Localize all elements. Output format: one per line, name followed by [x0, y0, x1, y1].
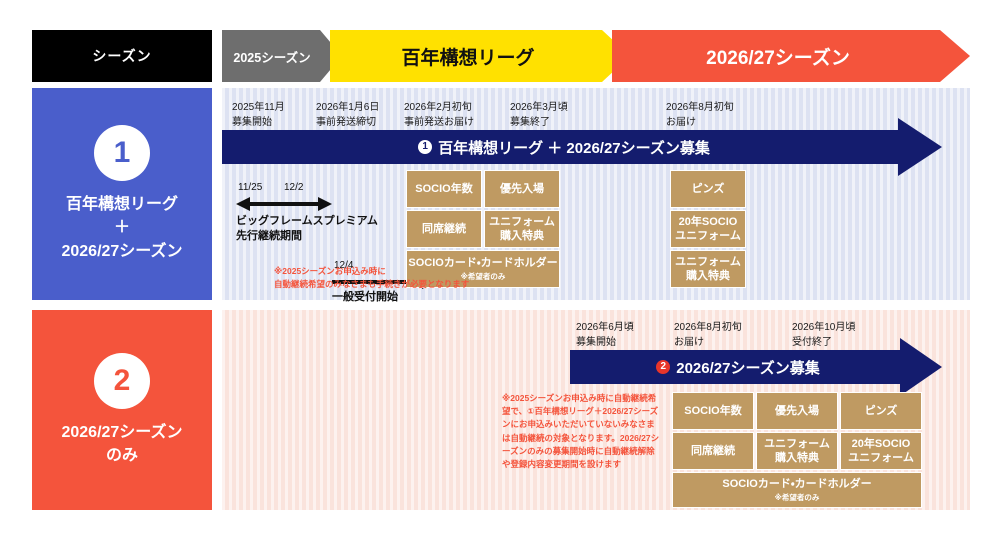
date-value: 2026年1月6日	[316, 100, 379, 115]
row-1-mini-caption: 一般受付開始	[332, 290, 398, 305]
benefit-sublabel: ※希望者のみ	[775, 493, 820, 503]
benefit-label: ピンズ	[865, 404, 898, 418]
row-1-title-plus: ＋	[61, 216, 182, 239]
arrow-number-badge: 1	[418, 140, 432, 154]
arrow-label-text: 百年構想リーグ ＋ 2026/27シーズン募集	[438, 137, 710, 158]
row-2-title-line: 2026/27シーズン	[61, 421, 182, 444]
benefit-label: ピンズ	[692, 182, 725, 196]
row-1-benefit-box: SOCIO年数	[406, 170, 482, 208]
benefit-label: 同席継続	[691, 444, 735, 458]
arrow-label-text: 2026/27シーズン募集	[676, 357, 819, 378]
row-2-arrow-label-wrap: 2 2026/27シーズン募集	[570, 338, 942, 396]
row-2-arrow-label: 2 2026/27シーズン募集	[656, 357, 855, 378]
date-value: 2026年3月頃	[510, 100, 568, 115]
row-1-title: 百年構想リーグ ＋ 2026/27シーズン	[61, 193, 182, 263]
benefit-label: 購入特典	[500, 229, 544, 243]
header-phase-2025-season: 2025シーズン	[222, 30, 342, 82]
header-phase-hyakunen-league: 百年構想リーグ	[330, 30, 630, 82]
row-1-double-arrow-icon	[236, 196, 332, 212]
benefit-label: 20年SOCIO	[679, 215, 738, 229]
row-1-benefit-box: 20年SOCIO ユニフォーム	[670, 210, 746, 248]
row-2-benefit-box: SOCIO年数	[672, 392, 754, 430]
benefit-label: ユニフォーム	[675, 255, 741, 269]
row-2-note: ※2025シーズンお申込み時に自動継続希望で、①百年構想リーグ＋2026/27シ…	[502, 392, 660, 471]
row-1-side-panel: 1 百年構想リーグ ＋ 2026/27シーズン	[32, 88, 212, 300]
row-2-title: 2026/27シーズン のみ	[61, 421, 182, 467]
caption-line: 先行継続期間	[236, 229, 378, 244]
benefit-label: SOCIO年数	[684, 404, 741, 418]
row-2-benefit-box: 20年SOCIO ユニフォーム	[840, 432, 922, 470]
row-1-title-line: 2026/27シーズン	[61, 240, 182, 263]
note-line: ※2025シーズンお申込み時に	[274, 265, 469, 278]
header-phase-label: 百年構想リーグ	[330, 43, 630, 70]
header-phase-2026-27-season: 2026/27シーズン	[612, 30, 970, 82]
date-value: 2026年10月頃	[792, 320, 855, 335]
row-2-benefit-box: ピンズ	[840, 392, 922, 430]
row-1-mini-start-date: 11/25	[238, 182, 262, 193]
row-2-side-panel: 2 2026/27シーズン のみ	[32, 310, 212, 510]
benefit-label: 優先入場	[500, 182, 544, 196]
row-1-timeline: 2025年11月 募集開始 2026年1月6日 事前発送締切 2026年2月初旬…	[222, 88, 970, 300]
date-value: 2026年8月初旬	[674, 320, 742, 335]
row-2-benefit-box: 優先入場	[756, 392, 838, 430]
benefit-label: 購入特典	[686, 269, 730, 283]
benefit-label: SOCIO年数	[415, 182, 472, 196]
date-value: 2026年8月初旬	[666, 100, 734, 115]
row-1-arrow-label-wrap: 1 百年構想リーグ ＋ 2026/27シーズン募集	[222, 118, 942, 176]
date-value: 2025年11月	[232, 100, 285, 115]
row-2-benefit-box-wide: SOCIOカード・カードホルダー ※希望者のみ	[672, 472, 922, 508]
arrow-number-badge: 2	[656, 360, 670, 374]
benefit-label: ユニフォーム	[489, 215, 555, 229]
row-1-benefit-box: ユニフォーム 購入特典	[670, 250, 746, 288]
row-1-arrow-label: 1 百年構想リーグ ＋ 2026/27シーズン募集	[418, 137, 746, 158]
row-1-benefit-box: 同席継続	[406, 210, 482, 248]
benefit-label: ユニフォーム	[764, 437, 830, 451]
row-2-benefit-box: 同席継続	[672, 432, 754, 470]
date-value: 2026年2月初旬	[404, 100, 474, 115]
benefit-label: 優先入場	[775, 404, 819, 418]
benefit-label: ユニフォーム	[848, 451, 914, 465]
benefit-label: 購入特典	[775, 451, 819, 465]
benefit-label: 同席継続	[422, 222, 466, 236]
row-1-mini-end-date: 12/2	[284, 182, 303, 193]
row-1-title-line: 百年構想リーグ	[61, 193, 182, 216]
row-1-benefit-box: ピンズ	[670, 170, 746, 208]
header-phase-label: 2025シーズン	[222, 47, 342, 66]
row-2-benefit-box: ユニフォーム 購入特典	[756, 432, 838, 470]
benefit-label: SOCIOカード・カードホルダー	[722, 477, 871, 491]
row-2-badge: 2	[94, 353, 150, 409]
caption-line: ビッグフレームスプレミアム	[236, 214, 378, 229]
header-season-label: シーズン	[32, 30, 212, 82]
row-1-mini-caption: ビッグフレームスプレミアム 先行継続期間	[236, 214, 378, 245]
row-2-timeline: 2026年6月頃 募集開始 2026年8月初旬 お届け 2026年10月頃 受付…	[222, 310, 970, 510]
benefit-label: ユニフォーム	[675, 229, 741, 243]
date-value: 2026年6月頃	[576, 320, 634, 335]
roadmap-diagram: シーズン 2025シーズン 百年構想リーグ 2026/27シーズン 1 百年構想…	[0, 0, 1000, 540]
row-2-title-line: のみ	[61, 444, 182, 467]
benefit-label: 20年SOCIO	[852, 437, 911, 451]
row-1-benefit-box: ユニフォーム 購入特典	[484, 210, 560, 248]
header-phase-label: 2026/27シーズン	[612, 43, 970, 70]
row-1-note: ※2025シーズンお申込み時に 自動継続希望のみなさまも手続きが必要となります	[274, 265, 469, 291]
row-1-badge: 1	[94, 125, 150, 181]
note-line: 自動継続希望のみなさまも手続きが必要となります	[274, 278, 469, 291]
row-1-benefit-box: 優先入場	[484, 170, 560, 208]
